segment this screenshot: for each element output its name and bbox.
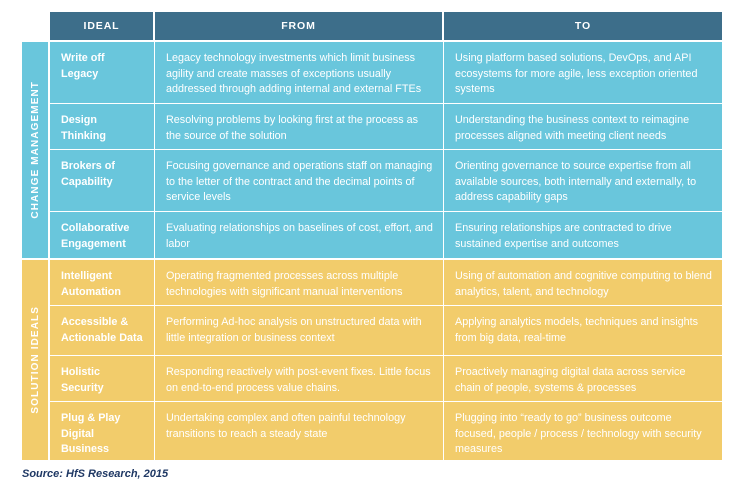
- cell-ideal: Intelligent Automation: [50, 260, 155, 305]
- table-header-row: IDEAL FROM TO: [22, 12, 722, 40]
- table-row: Holistic Security Responding reactively …: [50, 356, 722, 402]
- cell-from: Legacy technology investments which limi…: [155, 42, 444, 103]
- cell-to: Understanding the business context to re…: [444, 104, 722, 149]
- cell-ideal: Holistic Security: [50, 356, 155, 401]
- table-row: Collaborative Engagement Evaluating rela…: [50, 212, 722, 258]
- cell-ideal: Plug & Play Digital Business Services: [50, 402, 155, 460]
- table-row: Brokers of Capability Focusing governanc…: [50, 150, 722, 212]
- section-solution-ideals: SOLUTION IDEALS Intelligent Automation O…: [22, 258, 722, 460]
- table-row: Design Thinking Resolving problems by lo…: [50, 104, 722, 150]
- table-row: Accessible & Actionable Data Performing …: [50, 306, 722, 356]
- cell-ideal: Design Thinking: [50, 104, 155, 149]
- ideals-matrix-table: IDEAL FROM TO CHANGE MANAGEMENT Write of…: [22, 12, 722, 455]
- table-row: Intelligent Automation Operating fragmen…: [50, 260, 722, 306]
- section-label-solution-ideals: SOLUTION IDEALS: [22, 260, 50, 460]
- cell-from: Focusing governance and operations staff…: [155, 150, 444, 211]
- section-label-solution-ideals-text: SOLUTION IDEALS: [30, 306, 41, 414]
- cell-ideal: Collaborative Engagement: [50, 212, 155, 258]
- section-change-management: CHANGE MANAGEMENT Write off Legacy Legac…: [22, 40, 722, 258]
- cell-to: Using platform based solutions, DevOps, …: [444, 42, 722, 103]
- cell-to: Proactively managing digital data across…: [444, 356, 722, 401]
- source-note: Source: HfS Research, 2015: [22, 468, 168, 480]
- cell-from: Performing Ad-hoc analysis on unstructur…: [155, 306, 444, 355]
- cell-from: Resolving problems by looking first at t…: [155, 104, 444, 149]
- cell-from: Undertaking complex and often painful te…: [155, 402, 444, 460]
- column-header-ideal: IDEAL: [50, 12, 155, 40]
- section-solution-ideals-rows: Intelligent Automation Operating fragmen…: [50, 260, 722, 460]
- cell-ideal: Brokers of Capability: [50, 150, 155, 211]
- cell-ideal: Write off Legacy: [50, 42, 155, 103]
- cell-from: Operating fragmented processes across mu…: [155, 260, 444, 305]
- section-label-change-management: CHANGE MANAGEMENT: [22, 42, 50, 258]
- cell-ideal: Accessible & Actionable Data: [50, 306, 155, 355]
- table-row: Write off Legacy Legacy technology inves…: [50, 42, 722, 104]
- cell-to: Using of automation and cognitive comput…: [444, 260, 722, 305]
- cell-from: Evaluating relationships on baselines of…: [155, 212, 444, 258]
- cell-to: Plugging into “ready to go” business out…: [444, 402, 722, 460]
- cell-to: Ensuring relationships are contracted to…: [444, 212, 722, 258]
- column-header-from: FROM: [155, 12, 444, 40]
- section-label-change-management-text: CHANGE MANAGEMENT: [30, 81, 41, 219]
- cell-from: Responding reactively with post-event fi…: [155, 356, 444, 401]
- cell-to: Applying analytics models, techniques an…: [444, 306, 722, 355]
- table-row: Plug & Play Digital Business Services Un…: [50, 402, 722, 460]
- header-corner-spacer: [22, 12, 50, 40]
- section-change-management-rows: Write off Legacy Legacy technology inves…: [50, 42, 722, 258]
- column-header-to: TO: [444, 12, 722, 40]
- cell-to: Orienting governance to source expertise…: [444, 150, 722, 211]
